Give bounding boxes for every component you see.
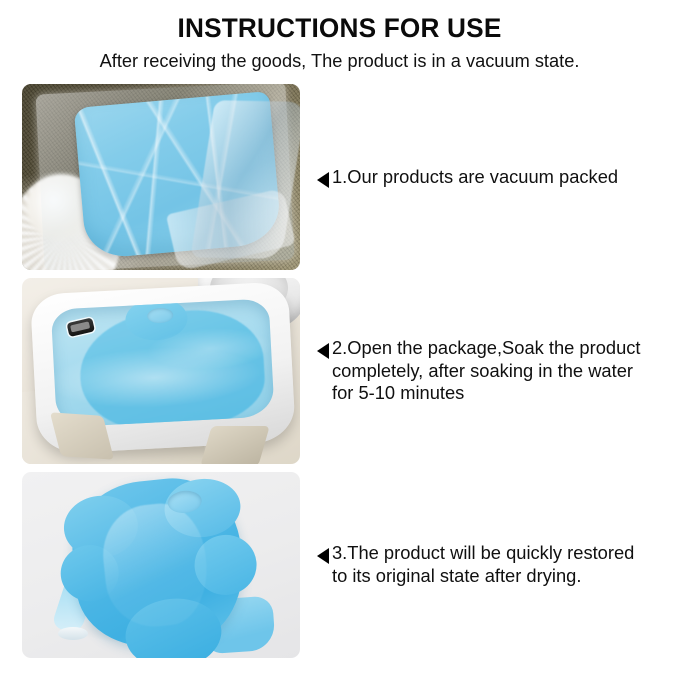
step-1-text: 1.Our products are vacuum packed xyxy=(332,166,618,189)
triangle-left-icon xyxy=(317,343,329,359)
instruction-step-3: 3.The product will be quickly restored t… xyxy=(0,472,679,658)
instruction-steps-list: 1.Our products are vacuum packed xyxy=(0,84,679,666)
suction-cup xyxy=(58,627,88,640)
page-subtitle: After receiving the goods, The product i… xyxy=(5,50,674,71)
step-3-photo-restored xyxy=(22,472,300,658)
step-3-caption: 3.The product will be quickly restored t… xyxy=(317,542,679,588)
triangle-left-icon xyxy=(317,548,329,564)
step-1-photo-vacuum-packed xyxy=(22,84,300,270)
tub-water xyxy=(51,298,275,427)
step-1-caption: 1.Our products are vacuum packed xyxy=(317,166,679,189)
step-3-text: 3.The product will be quickly restored t… xyxy=(332,542,634,588)
step-2-photo-soaking xyxy=(22,278,300,464)
instruction-step-1: 1.Our products are vacuum packed xyxy=(0,84,679,270)
water-reflection xyxy=(51,298,275,427)
thermometer-screen xyxy=(70,321,90,332)
step-2-text: 2.Open the package,Soak the product comp… xyxy=(332,337,641,406)
instruction-step-2: 2.Open the package,Soak the product comp… xyxy=(0,278,679,464)
step-2-caption: 2.Open the package,Soak the product comp… xyxy=(317,337,679,406)
page-header: INSTRUCTIONS FOR USE After receiving the… xyxy=(0,0,679,71)
page-title: INSTRUCTIONS FOR USE xyxy=(10,14,669,44)
vacuum-bag xyxy=(36,84,295,270)
tub-leg-right xyxy=(200,426,269,464)
triangle-left-icon xyxy=(317,172,329,188)
